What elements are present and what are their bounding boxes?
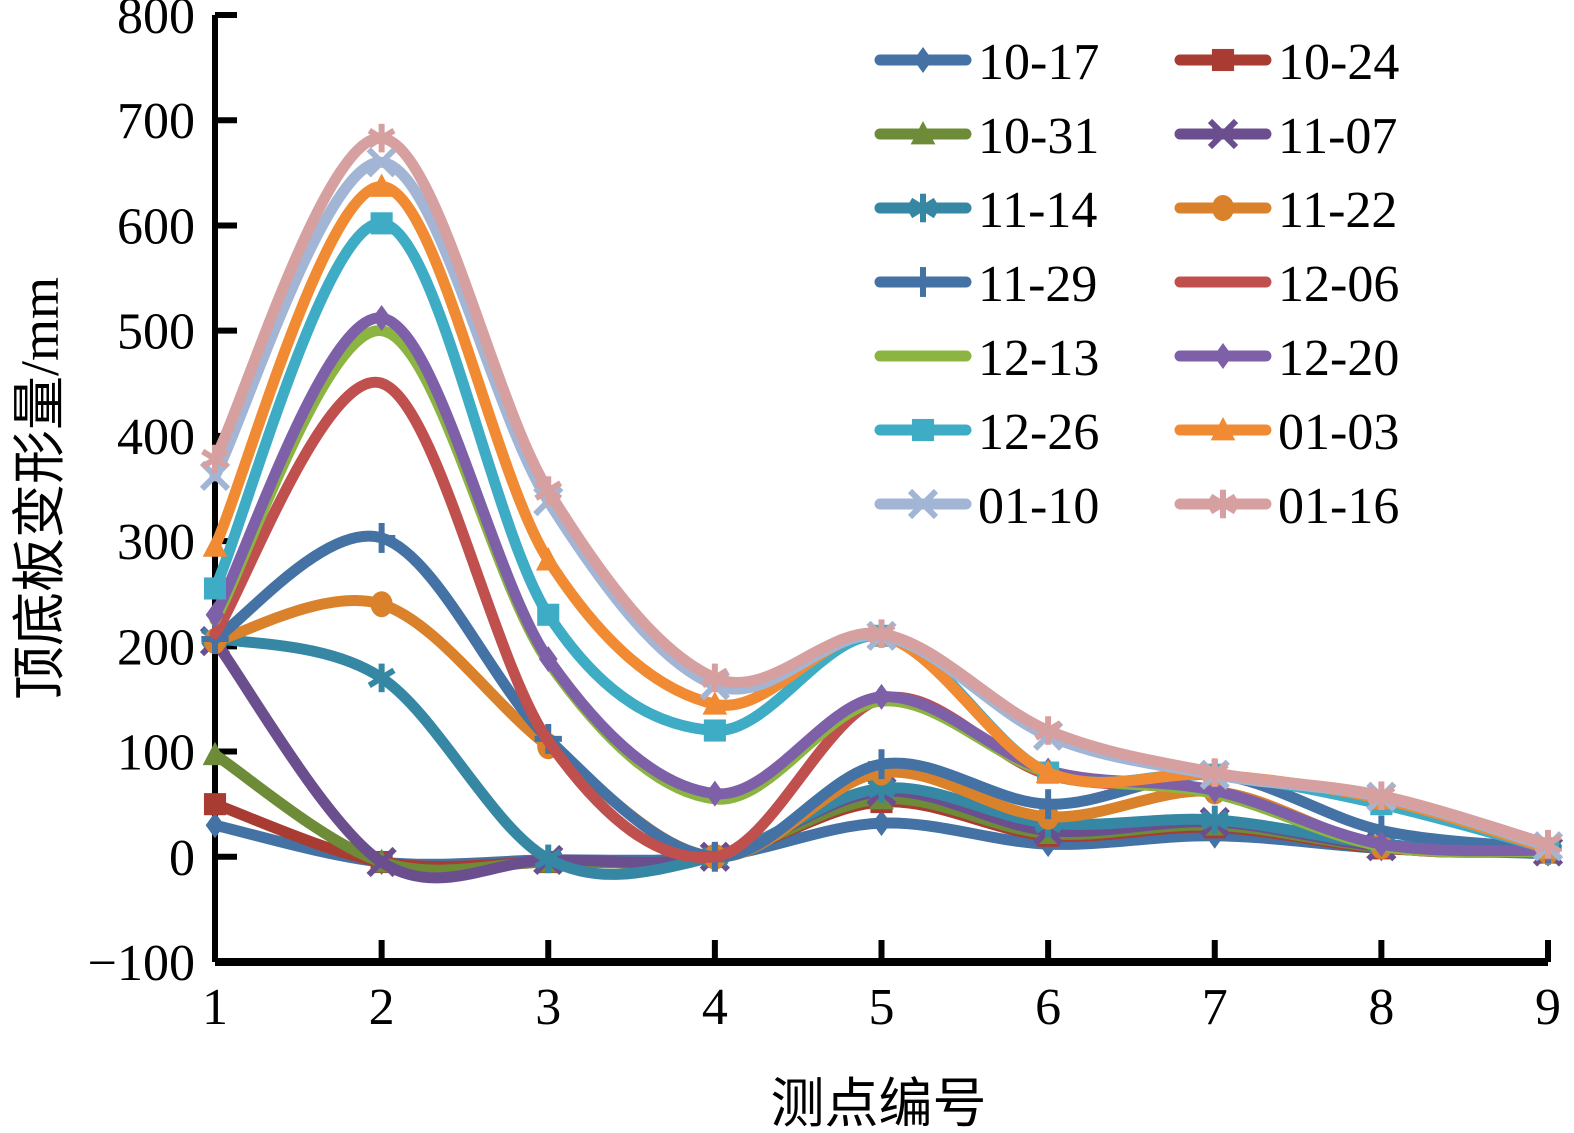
- data-marker-square: [537, 604, 559, 626]
- legend-label: 11-14: [978, 182, 1097, 239]
- x-axis-title: 测点编号: [771, 1074, 987, 1133]
- legend-label: 01-10: [978, 478, 1099, 535]
- legend-item-01-16[interactable]: 01-16: [1180, 478, 1399, 535]
- chart-root: −1000100200300400500600700800123456789测点…: [0, 0, 1574, 1133]
- legend-label: 01-03: [1278, 404, 1399, 461]
- chart-legend: 10-1710-2410-3111-0711-1411-2211-2912-06…: [880, 34, 1399, 535]
- legend-item-11-22[interactable]: 11-22: [1180, 182, 1397, 239]
- x-tick-label: 4: [702, 979, 728, 1036]
- x-tick-label: 5: [869, 979, 895, 1036]
- legend-label: 12-26: [978, 404, 1099, 461]
- x-tick-label: 2: [369, 979, 395, 1036]
- y-tick-label: 600: [117, 198, 195, 255]
- y-tick-label: 400: [117, 409, 195, 466]
- data-marker-diamond: [914, 47, 933, 73]
- legend-item-01-10[interactable]: 01-10: [880, 478, 1099, 535]
- legend-label: 12-06: [1278, 256, 1399, 313]
- y-tick-label: 300: [117, 514, 195, 571]
- legend-label: 10-17: [978, 34, 1099, 91]
- data-marker-diamond: [872, 810, 891, 836]
- legend-item-11-07[interactable]: 11-07: [1180, 108, 1397, 165]
- legend-item-12-26[interactable]: 12-26: [880, 404, 1099, 461]
- legend-label: 11-29: [978, 256, 1097, 313]
- legend-item-11-14[interactable]: 11-14: [880, 182, 1097, 239]
- legend-label: 01-16: [1278, 478, 1399, 535]
- legend-item-10-24[interactable]: 10-24: [1180, 34, 1399, 91]
- y-tick-label: 0: [169, 830, 195, 887]
- data-marker-square: [204, 793, 226, 815]
- y-tick-label: 700: [117, 93, 195, 150]
- legend-item-12-06[interactable]: 12-06: [1180, 256, 1399, 313]
- x-tick-label: 8: [1368, 979, 1394, 1036]
- data-marker-square: [1212, 49, 1234, 71]
- x-tick-label: 1: [202, 979, 228, 1036]
- data-marker-plus: [368, 523, 395, 553]
- legend-label: 10-31: [978, 108, 1099, 165]
- legend-item-10-17[interactable]: 10-17: [880, 34, 1099, 91]
- data-marker-square: [704, 719, 726, 741]
- legend-item-01-03[interactable]: 01-03: [1180, 404, 1399, 461]
- data-marker-circle: [1212, 195, 1234, 221]
- legend-label: 10-24: [1278, 34, 1399, 91]
- line-chart: −1000100200300400500600700800123456789测点…: [0, 0, 1574, 1133]
- data-marker-plus: [909, 267, 936, 297]
- x-tick-label: 6: [1035, 979, 1061, 1036]
- y-tick-label: 200: [117, 619, 195, 676]
- legend-label: 12-20: [1278, 330, 1399, 387]
- legend-label: 11-07: [1278, 108, 1397, 165]
- x-tick-label: 9: [1535, 979, 1561, 1036]
- y-tick-label: −100: [88, 935, 195, 992]
- legend-label: 11-22: [1278, 182, 1397, 239]
- x-tick-label: 3: [535, 979, 561, 1036]
- data-marker-circle: [371, 591, 393, 617]
- legend-item-11-29[interactable]: 11-29: [880, 256, 1097, 313]
- data-marker-diamond: [1214, 343, 1233, 369]
- x-tick-label: 7: [1202, 979, 1228, 1036]
- legend-item-12-20[interactable]: 12-20: [1180, 330, 1399, 387]
- legend-label: 12-13: [978, 330, 1099, 387]
- data-marker-square: [912, 419, 934, 441]
- legend-item-10-31[interactable]: 10-31: [880, 108, 1099, 165]
- data-marker-diamond: [206, 812, 225, 838]
- data-marker-square: [371, 212, 393, 234]
- y-tick-label: 500: [117, 304, 195, 361]
- legend-item-12-13[interactable]: 12-13: [880, 330, 1099, 387]
- y-tick-label: 100: [117, 725, 195, 782]
- y-axis-title: 顶底板变形量/mm: [10, 277, 70, 700]
- y-tick-label: 800: [117, 0, 195, 45]
- data-marker-square: [204, 577, 226, 599]
